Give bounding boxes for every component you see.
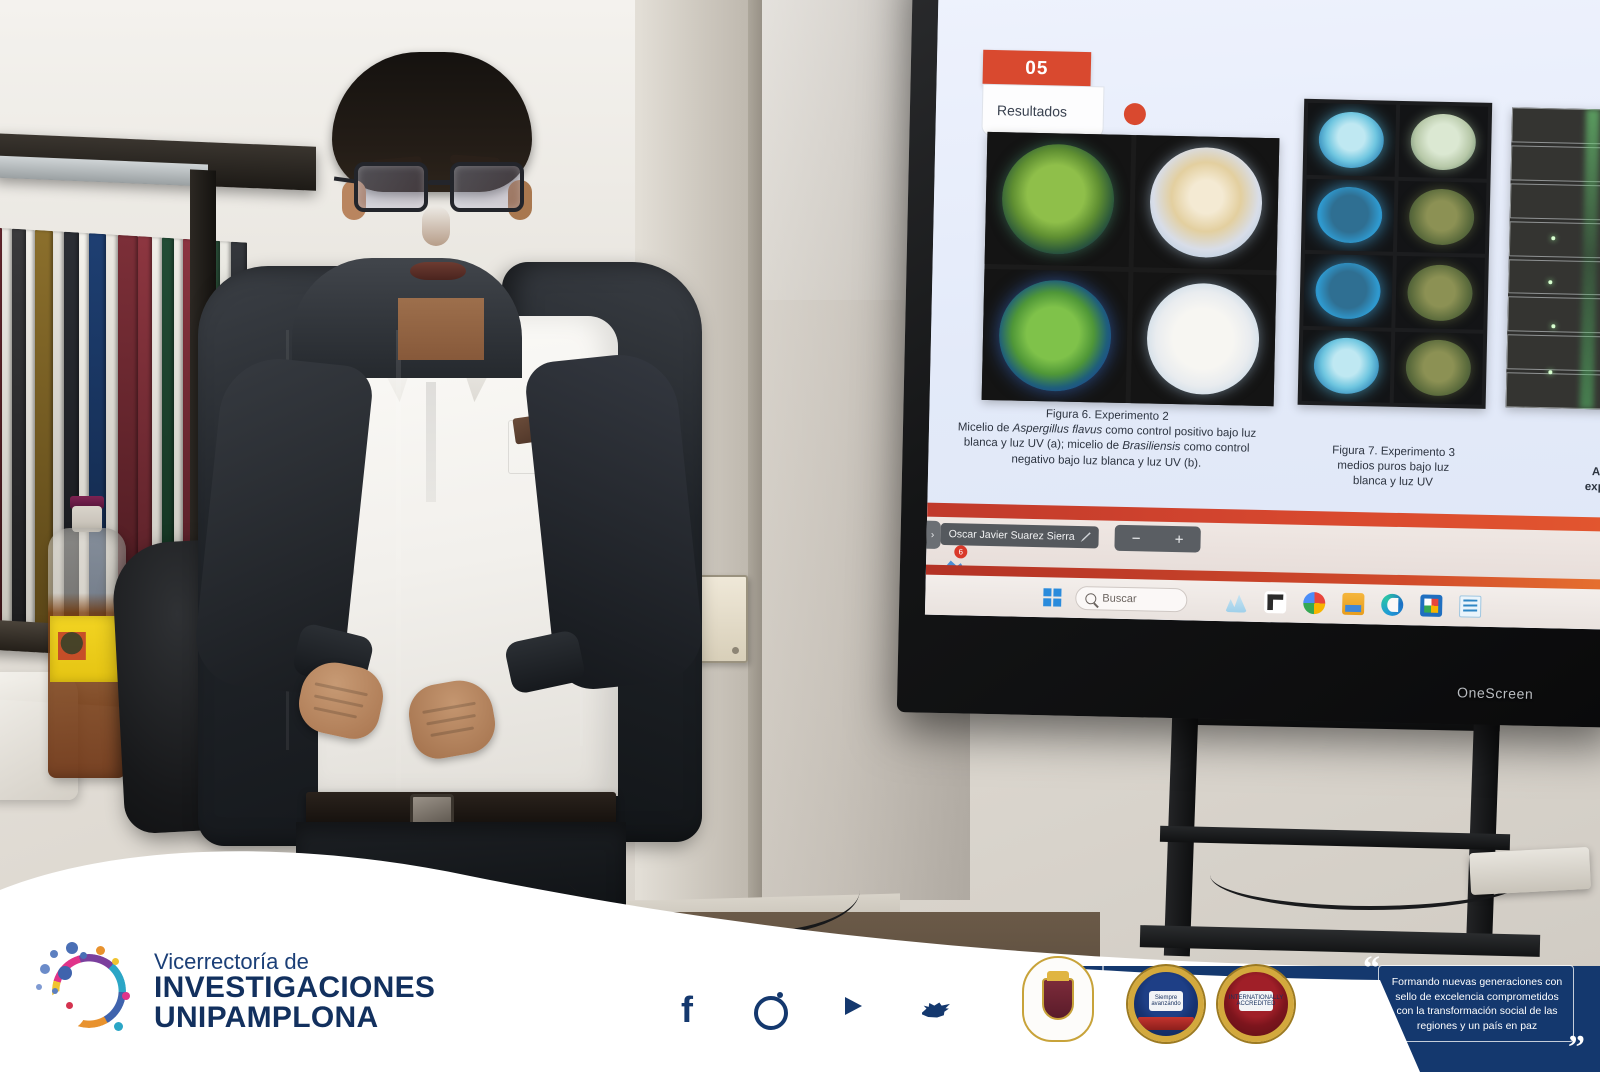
zoom-out-button[interactable]: − — [1132, 530, 1141, 547]
fluorescence-spot — [1551, 236, 1555, 240]
figure-7-image-grid — [1298, 99, 1493, 409]
uv-dish — [1410, 113, 1476, 170]
figure-6-caption: Figura 6. Experimento 2 Micelio de Asper… — [956, 405, 1257, 472]
figure-8-caption-line-2: exposici — [1585, 481, 1600, 494]
figure-8-image-grid — [1506, 107, 1600, 410]
unipamplona-logo[interactable]: Vicerrectoría de INVESTIGACIONES UNIPAMP… — [36, 940, 435, 1044]
universidad-de-pamplona-crest-icon — [1022, 956, 1094, 1042]
slide-section-number: 05 — [982, 50, 1091, 88]
quote-open-mark: “ — [1363, 952, 1380, 986]
fluorescence-spot — [1551, 324, 1555, 328]
shirt-placket — [426, 382, 436, 502]
finger-line — [313, 707, 357, 719]
display-brand-label: OneScreen — [1457, 684, 1534, 702]
presenter-name-pill[interactable]: Oscar Javier Suarez Sierra — [940, 523, 1098, 548]
petri-cell — [1133, 135, 1279, 270]
accreditation-seals — [1022, 956, 1094, 1042]
onescreen-display[interactable]: 05 Resultados — [897, 0, 1600, 728]
banner-divider — [1102, 966, 1104, 1032]
presentation-slide[interactable]: 05 Resultados — [925, 0, 1600, 630]
facebook-icon: f — [662, 984, 714, 1036]
uv-dish — [1313, 337, 1379, 394]
search-icon — [1085, 593, 1096, 604]
figure-7-caption-line-1: Figura 7. Experimento 3 — [1332, 444, 1455, 459]
uv-dish — [1317, 186, 1383, 243]
seal-core-label: INTERNATIONALLY ACCREDITED — [1239, 991, 1273, 1011]
slide-section-tab: Resultados — [981, 84, 1104, 139]
finger-line — [430, 726, 474, 737]
petri-cell — [982, 268, 1128, 403]
uv-dish — [1407, 264, 1473, 321]
microsoft-store-icon[interactable] — [1420, 594, 1442, 616]
institutional-quote: “ Formando nuevas generaciones con sello… — [1378, 965, 1574, 1042]
logo-mark-icon — [36, 940, 140, 1044]
petri-cell — [985, 132, 1131, 267]
figure-7-caption-line-2: medios puros bajo luz — [1337, 460, 1449, 474]
pen-icon[interactable] — [1081, 532, 1091, 542]
zoom-controls[interactable]: − + — [1114, 525, 1201, 553]
lens-left — [354, 162, 428, 212]
windows-start-icon[interactable] — [1043, 588, 1061, 606]
twitter-link[interactable] — [910, 984, 962, 1036]
uv-dish — [1405, 339, 1471, 396]
logo-line-2: INVESTIGACIONES — [154, 973, 435, 1003]
figure-6-species-2: Brasiliensis — [1122, 440, 1180, 453]
petri-dish-green-white-light — [1001, 143, 1115, 256]
mouth — [410, 262, 466, 280]
acreditacion-institucional-seal-icon: Siempre avanzando — [1128, 966, 1204, 1042]
figure-6-image-grid — [982, 132, 1280, 406]
taskbar-search-input[interactable]: Buscar — [1075, 586, 1187, 612]
nose — [422, 206, 450, 246]
petri-cell — [1130, 272, 1276, 407]
slide-accent-dot — [1124, 103, 1146, 125]
teams-icon[interactable] — [1264, 591, 1286, 613]
screenshot-root: 05 Resultados — [0, 0, 1600, 1072]
bottom-banner: Vicerrectoría de INVESTIGACIONES UNIPAMP… — [0, 850, 1600, 1072]
finger-line — [314, 694, 364, 707]
quote-line-3: con la transformación social de las — [1396, 1005, 1557, 1017]
taskbar-search-placeholder: Buscar — [1102, 593, 1137, 606]
finger-line — [422, 702, 476, 714]
figure-8-caption-line-1: Asper — [1592, 466, 1600, 479]
logo-line-1: Vicerrectoría de — [154, 951, 435, 973]
taskbar-pinned-icons[interactable] — [1225, 581, 1482, 627]
uv-dish — [1409, 188, 1475, 245]
slide-section-title: Resultados — [997, 102, 1067, 120]
presenter-name-label: Oscar Javier Suarez Sierra — [949, 528, 1075, 543]
figure-7-caption-line-3: blanca y luz UV — [1353, 475, 1433, 489]
file-explorer-icon[interactable] — [1342, 593, 1364, 615]
uv-dish — [1318, 111, 1384, 168]
youtube-icon — [822, 984, 882, 1028]
seal-core-label: Siempre avanzando — [1149, 991, 1183, 1011]
widgets-weather-icon[interactable] — [1225, 590, 1247, 612]
quote-line-4: regiones y un país en paz — [1417, 1020, 1537, 1032]
twitter-icon — [910, 984, 962, 1036]
international-accreditation-seal-icon: INTERNATIONALLY ACCREDITED — [1218, 966, 1294, 1042]
glasses-bridge — [428, 180, 454, 185]
presenter — [110, 30, 670, 950]
notification-badge: 6 — [954, 545, 967, 558]
twitter-bird-glyph — [922, 999, 950, 1021]
jacket-zipper — [396, 330, 401, 800]
figure-8-caption: Asper exposici — [1518, 464, 1600, 498]
uv-dish — [1315, 262, 1381, 319]
zoom-in-button[interactable]: + — [1175, 531, 1184, 548]
logo-line-3: UNIPAMPLONA — [154, 1003, 435, 1033]
quote-line-1: Formando nuevas generaciones con — [1392, 976, 1562, 988]
panel-expand-button[interactable]: › — [925, 521, 941, 549]
facebook-glyph: f — [681, 993, 697, 1029]
figure-7-caption: Figura 7. Experimento 3 medios puros baj… — [1288, 443, 1499, 493]
petri-dish-cream-white-light — [1149, 146, 1263, 259]
instagram-icon — [742, 984, 792, 1034]
finger-line — [426, 714, 476, 726]
petri-dish-white-uv — [1146, 282, 1260, 395]
social-links[interactable]: f — [662, 984, 962, 1036]
lens-right — [450, 162, 524, 212]
figure-6-species-1: Aspergillus flavus — [1013, 423, 1103, 437]
figure-6-caption-part-1: Micelio de — [958, 421, 1013, 434]
finger-line — [315, 682, 368, 696]
quote-line-2: sello de excelencia comprometidos — [1395, 991, 1558, 1003]
fluorescence-spot — [1548, 370, 1552, 374]
figure-6-caption-title: Figura 6. Experimento 2 — [1046, 408, 1169, 423]
seal-ribbon — [1138, 1017, 1194, 1030]
edge-icon[interactable] — [1381, 594, 1403, 616]
youtube-link[interactable] — [822, 984, 882, 1036]
petri-dish-green-uv — [998, 279, 1112, 392]
instagram-link[interactable] — [742, 984, 794, 1036]
notes-icon[interactable] — [1459, 595, 1481, 617]
quote-close-mark: ” — [1568, 1031, 1585, 1065]
fluorescence-spot — [1548, 280, 1552, 284]
display-screen[interactable]: 05 Resultados — [925, 0, 1600, 630]
taskbar-start-group[interactable]: Buscar — [1043, 577, 1188, 620]
copilot-icon[interactable] — [1303, 592, 1325, 614]
logo-text-block: Vicerrectoría de INVESTIGACIONES UNIPAMP… — [154, 951, 435, 1033]
facebook-link[interactable]: f — [662, 984, 714, 1036]
accreditation-seal-group: Siempre avanzando INTERNATIONALLY ACCRED… — [1128, 966, 1294, 1042]
